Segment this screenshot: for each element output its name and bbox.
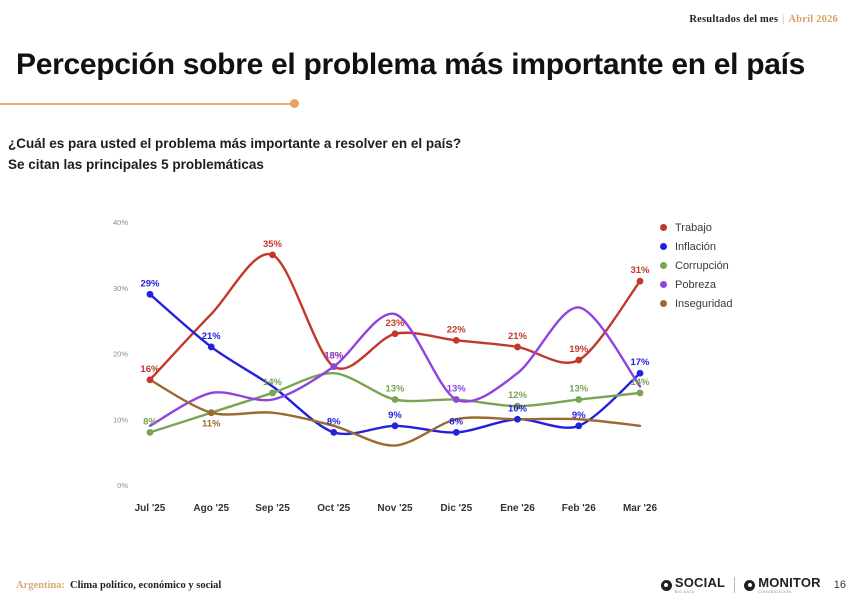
subtitle-line-2: Se citan las principales 5 problemáticas <box>8 155 648 176</box>
data-point <box>453 429 460 436</box>
data-point <box>637 278 644 285</box>
data-label: 9% <box>572 410 586 421</box>
x-axis-tick-label: Feb '26 <box>562 503 596 514</box>
data-point <box>514 416 521 423</box>
footer-logos: SOCIAL BIG DATA MONITOR COMUNICACIÓN 16 <box>661 576 846 594</box>
page-number: 16 <box>834 579 846 591</box>
legend-swatch-icon <box>660 300 667 307</box>
data-point <box>514 344 521 351</box>
legend-item-label: Corrupción <box>675 260 729 272</box>
legend-swatch-icon <box>660 243 667 250</box>
x-axis-tick-label: Jul '25 <box>135 503 166 514</box>
chart-svg: 0%10%20%30%40%Jul '25Ago '25Sep '25Oct '… <box>0 200 680 545</box>
subtitle-line-1: ¿Cuál es para usted el problema más impo… <box>8 134 648 155</box>
data-point <box>147 291 154 298</box>
data-point <box>575 357 582 364</box>
social-logo-icon <box>661 580 672 591</box>
x-axis-tick-label: Dic '25 <box>440 503 472 514</box>
monitor-logo-subtext: COMUNICACIÓN <box>758 590 791 594</box>
data-label: 8% <box>449 416 463 427</box>
data-point <box>330 363 337 370</box>
page-title: Percepción sobre el problema más importa… <box>16 48 816 83</box>
data-label: 13% <box>385 384 405 395</box>
data-point <box>269 251 276 258</box>
data-point <box>392 396 399 403</box>
footer-description: Clima político, económico y social <box>70 580 221 591</box>
data-label: 8% <box>327 416 341 427</box>
data-point <box>269 390 276 397</box>
data-label: 23% <box>385 318 405 329</box>
y-axis-tick-label: 10% <box>113 415 128 424</box>
data-label: 16% <box>140 364 160 375</box>
line-chart: 0%10%20%30%40%Jul '25Ago '25Sep '25Oct '… <box>0 200 680 545</box>
data-label: 9% <box>388 410 402 421</box>
header-period: Abril 2026 <box>788 14 838 25</box>
data-label: 21% <box>508 331 528 342</box>
legend-item-inseguridad[interactable]: Inseguridad <box>660 294 850 313</box>
x-axis-tick-label: Ene '26 <box>500 503 535 514</box>
legend-item-label: Inflación <box>675 241 716 253</box>
chart-legend: TrabajoInflaciónCorrupciónPobrezaInsegur… <box>660 218 850 313</box>
data-label: 14% <box>630 377 650 388</box>
footer-country: Argentina: <box>16 580 65 591</box>
data-point <box>147 429 154 436</box>
title-underline <box>0 103 296 105</box>
y-axis-tick-label: 30% <box>113 284 128 293</box>
header-meta: Resultados del mes | Abril 2026 <box>689 14 838 25</box>
x-axis-tick-label: Nov '25 <box>377 503 413 514</box>
data-label: 31% <box>630 265 650 276</box>
data-point <box>208 344 215 351</box>
data-point <box>637 390 644 397</box>
legend-item-trabajo[interactable]: Trabajo <box>660 218 850 237</box>
social-logo-text: SOCIAL <box>675 576 725 589</box>
data-label: 14% <box>263 377 283 388</box>
x-axis-tick-label: Ago '25 <box>193 503 229 514</box>
data-label: 13% <box>447 384 467 395</box>
legend-item-label: Pobreza <box>675 279 716 291</box>
logo-divider <box>734 577 735 593</box>
header-results-label: Resultados del mes <box>689 14 778 25</box>
data-point <box>208 409 215 416</box>
slide: Resultados del mes | Abril 2026 Percepci… <box>0 0 862 600</box>
data-point <box>453 337 460 344</box>
data-point <box>392 422 399 429</box>
x-axis-tick-label: Sep '25 <box>255 503 290 514</box>
y-axis-tick-label: 20% <box>113 350 128 359</box>
data-label: 17% <box>630 357 650 368</box>
legend-item-label: Trabajo <box>675 222 712 234</box>
data-label: 35% <box>263 239 283 250</box>
x-axis-tick-label: Oct '25 <box>317 503 350 514</box>
monitor-logo-text: MONITOR <box>758 576 821 589</box>
data-label: 22% <box>447 324 467 335</box>
data-point <box>637 370 644 377</box>
social-logo-subtext: BIG DATA <box>675 590 694 594</box>
legend-item-inflación[interactable]: Inflación <box>660 237 850 256</box>
title-underline-dot <box>290 99 299 108</box>
data-point <box>392 330 399 337</box>
legend-item-pobreza[interactable]: Pobreza <box>660 275 850 294</box>
data-label: 29% <box>140 278 160 289</box>
data-label: 18% <box>324 351 344 362</box>
data-point <box>453 396 460 403</box>
legend-item-label: Inseguridad <box>675 298 733 310</box>
data-label: 19% <box>569 344 589 355</box>
data-point <box>330 429 337 436</box>
legend-swatch-icon <box>660 224 667 231</box>
social-logo: SOCIAL BIG DATA <box>661 576 725 594</box>
data-label: 21% <box>202 331 222 342</box>
footer-caption: Argentina: Clima político, económico y s… <box>16 580 221 591</box>
data-point <box>575 422 582 429</box>
data-label: 11% <box>202 419 221 430</box>
data-point <box>147 376 154 383</box>
x-axis-tick-label: Mar '26 <box>623 503 658 514</box>
y-axis-tick-label: 0% <box>117 481 128 490</box>
legend-item-corrupción[interactable]: Corrupción <box>660 256 850 275</box>
monitor-logo-icon <box>744 580 755 591</box>
legend-swatch-icon <box>660 262 667 269</box>
data-point <box>575 396 582 403</box>
data-label: 13% <box>569 384 589 395</box>
header-separator: | <box>782 14 784 25</box>
data-label: 12% <box>508 390 528 401</box>
data-label: 8% <box>143 416 157 427</box>
legend-swatch-icon <box>660 281 667 288</box>
data-label: 10% <box>508 403 528 414</box>
question-subtitle: ¿Cuál es para usted el problema más impo… <box>8 134 648 176</box>
monitor-logo: MONITOR COMUNICACIÓN <box>744 576 821 594</box>
y-axis-tick-label: 40% <box>113 218 128 227</box>
